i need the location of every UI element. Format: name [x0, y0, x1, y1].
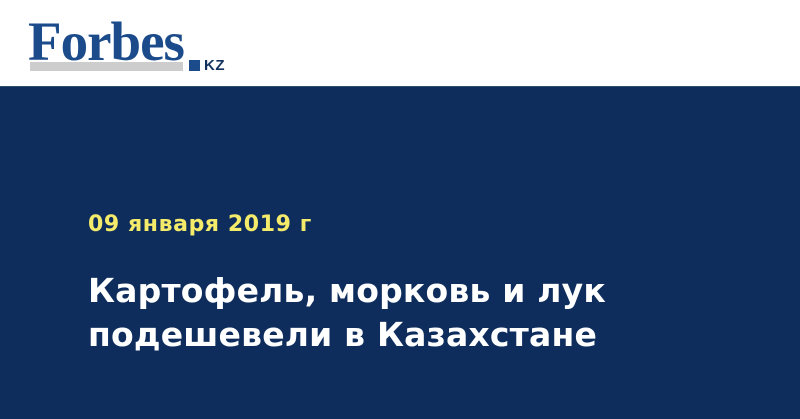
publication-date: 09 января 2019 г [88, 212, 312, 238]
logo-country-code: KZ [204, 58, 225, 73]
headline-line-1: Картофель, морковь и лук [88, 269, 708, 313]
article-hero-page: Forbes KZ 09 января 2019 г Картофель, мо… [0, 0, 800, 419]
forbes-wordmark: Forbes [28, 14, 184, 69]
article-headline: Картофель, морковь и лук подешевели в Ка… [88, 269, 708, 357]
headline-line-2: подешевели в Казахстане [88, 313, 708, 357]
forbes-kz-logo[interactable]: Forbes KZ [28, 14, 238, 76]
site-header: Forbes KZ [0, 0, 800, 87]
logo-underline-bar [30, 62, 183, 71]
hero-banner: 09 января 2019 г Картофель, морковь и лу… [0, 87, 800, 419]
logo-square-icon [189, 60, 200, 71]
